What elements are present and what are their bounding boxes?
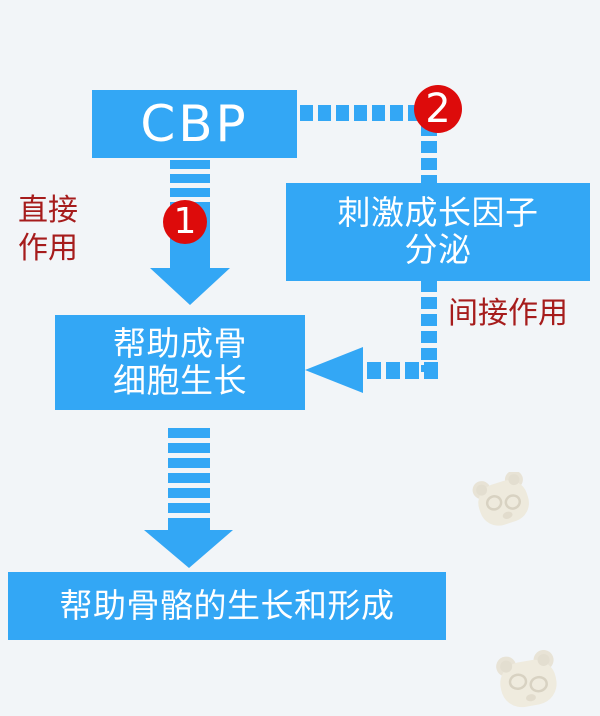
label-direct-effect: 直接 作用 <box>18 192 78 269</box>
step-badge-1: 1 <box>163 200 207 244</box>
box-cbp: CBP <box>92 90 297 158</box>
step-badge-2: 2 <box>414 85 462 133</box>
label-indirect-effect: 间接作用 <box>448 295 568 333</box>
arrow-osteoblast-to-bone-formation <box>140 428 236 568</box>
box-help-bone-growth-formation: 帮助骨骼的生长和形成 <box>8 572 446 640</box>
bear-tablet-icon <box>472 472 534 530</box>
box-growth-factor-secretion: 刺激成长因子 分泌 <box>286 183 590 281</box>
connector-badge2-to-growth-factor-box <box>418 124 440 186</box>
bear-tablet-icon <box>492 650 564 712</box>
diagram-canvas: CBP 2 <box>0 0 600 716</box>
arrow-growth-factor-to-osteoblast <box>305 347 441 393</box>
box-help-osteoblast-growth: 帮助成骨 细胞生长 <box>55 315 305 410</box>
